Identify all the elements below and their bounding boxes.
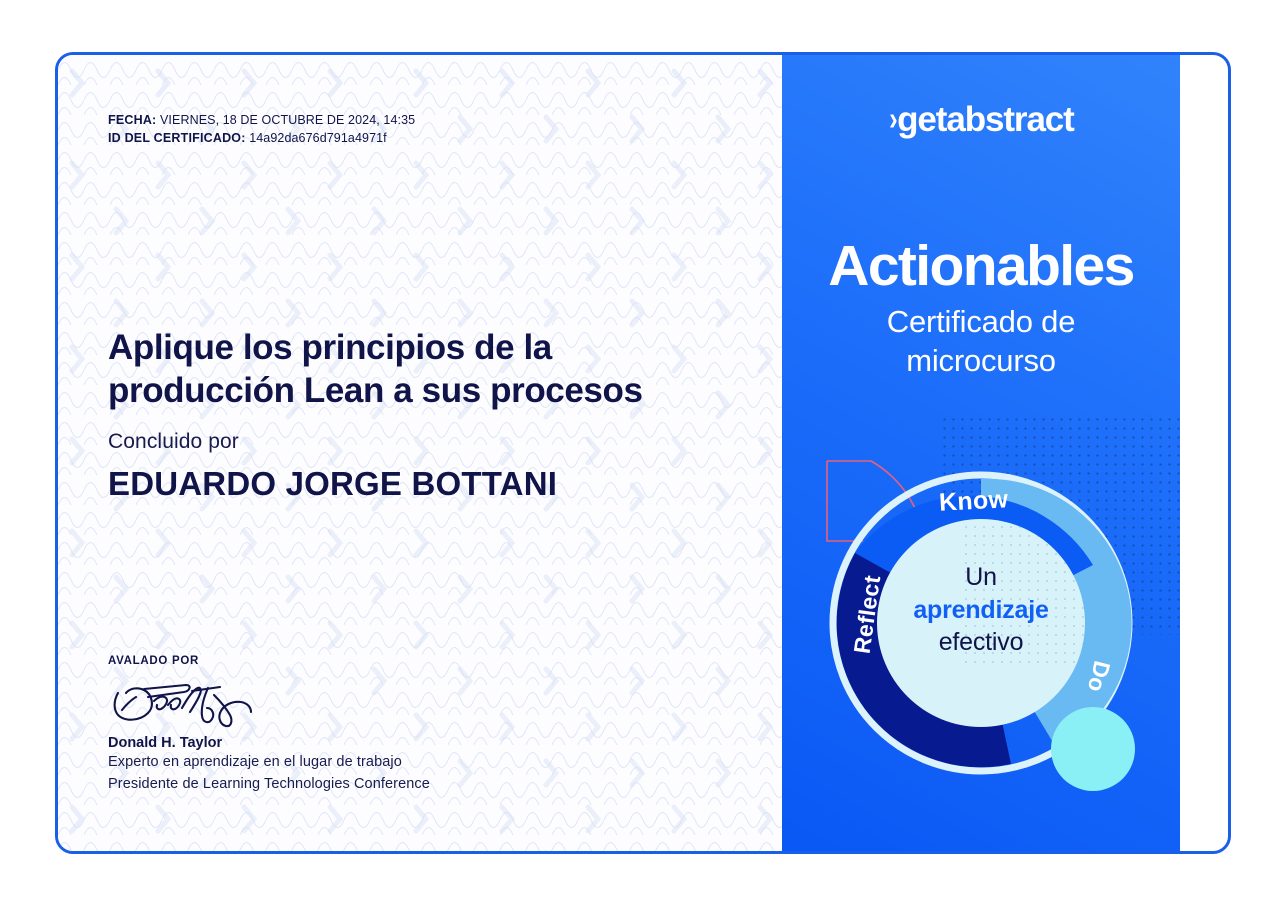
- certificate-card: FECHA: VIERNES, 18 DE OCTUBRE DE 2024, 1…: [55, 52, 1231, 854]
- certificate-date-label: FECHA:: [108, 113, 156, 127]
- core-text-line-1: Un: [877, 561, 1085, 594]
- certificate-id-row: ID DEL CERTIFICADO: 14a92da676d791a4971f: [108, 129, 415, 147]
- completed-by-label: Concluido por: [108, 430, 239, 454]
- cycle-accent-circle: [1051, 707, 1135, 791]
- panel-heading: Actionables: [782, 233, 1180, 299]
- cycle-core-text: Un aprendizaje efectivo: [877, 561, 1085, 659]
- core-text-line-2: aprendizaje: [877, 594, 1085, 627]
- endorsement-block: AVALADO POR Donald H.: [108, 655, 728, 796]
- panel-subtitle-line-2: microcurso: [782, 342, 1180, 381]
- certificate-right-panel: ›getabstract Actionables Certificado de …: [782, 55, 1180, 851]
- signer-title-line-2: Presidente de Learning Technologies Conf…: [108, 773, 728, 795]
- signer-name: Donald H. Taylor: [108, 735, 728, 751]
- cycle-label-know: Know: [938, 485, 1009, 518]
- course-title: Aplique los principios de la producción …: [108, 327, 728, 412]
- chevron-right-icon: ›: [889, 100, 897, 138]
- endorsed-by-label: AVALADO POR: [108, 655, 728, 667]
- certificate-date-row: FECHA: VIERNES, 18 DE OCTUBRE DE 2024, 1…: [108, 111, 415, 129]
- core-text-line-3: efectivo: [877, 626, 1085, 659]
- certificate-meta-block: FECHA: VIERNES, 18 DE OCTUBRE DE 2024, 1…: [108, 111, 415, 147]
- panel-subtitle: Certificado de microcurso: [782, 303, 1180, 381]
- recipient-name: EDUARDO JORGE BOTTANI: [108, 465, 557, 503]
- certificate-id-value: 14a92da676d791a4971f: [249, 131, 387, 145]
- certificate-id-label: ID DEL CERTIFICADO:: [108, 131, 246, 145]
- panel-subtitle-line-1: Certificado de: [782, 303, 1180, 342]
- certificate-date-value: VIERNES, 18 DE OCTUBRE DE 2024, 14:35: [160, 113, 415, 127]
- signature-image: [108, 675, 728, 733]
- getabstract-logo: ›getabstract: [782, 100, 1180, 140]
- signer-title-line-1: Experto en aprendizaje en el lugar de tr…: [108, 751, 728, 773]
- learning-cycle-diagram: Know Reflect Do Un aprendizaje efectivo: [811, 453, 1151, 793]
- certificate-left-panel: FECHA: VIERNES, 18 DE OCTUBRE DE 2024, 1…: [58, 55, 782, 851]
- brand-name: getabstract: [897, 100, 1074, 139]
